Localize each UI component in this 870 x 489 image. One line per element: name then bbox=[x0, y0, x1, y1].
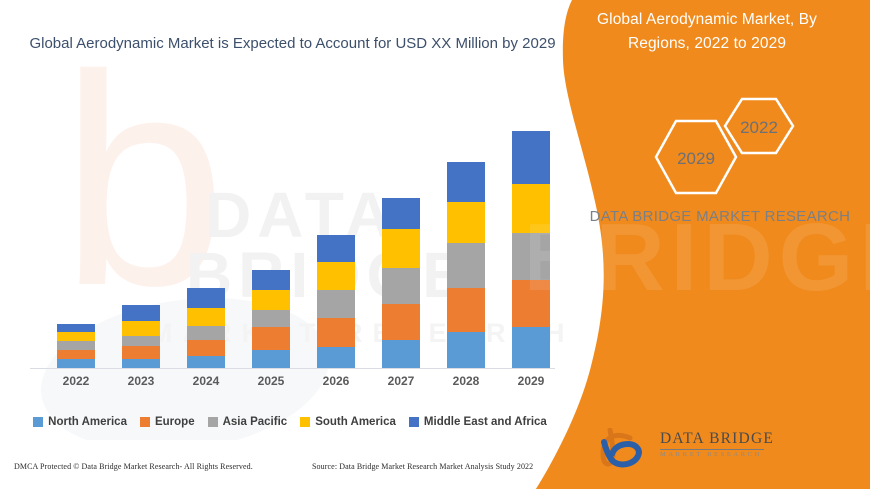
legend-swatch-icon bbox=[300, 417, 310, 427]
stacked-bar bbox=[187, 288, 225, 368]
bar-segment bbox=[447, 332, 485, 368]
logo-subtitle: MARKET RESEARCH bbox=[660, 451, 762, 458]
bar-segment bbox=[57, 324, 95, 332]
bar-segment bbox=[252, 310, 290, 327]
bar-segment bbox=[252, 350, 290, 368]
footer: DMCA Protected © Data Bridge Market Rese… bbox=[0, 462, 600, 484]
bar-segment bbox=[382, 198, 420, 229]
slide-canvas: b DATA BRIDGE MARKET RESEARCH Global Aer… bbox=[0, 0, 870, 489]
stacked-bar bbox=[382, 198, 420, 368]
chart-plot-area: 20222023202420252026202720282029 bbox=[0, 0, 600, 400]
bar-segment bbox=[382, 340, 420, 368]
logo-mark-icon bbox=[600, 428, 656, 472]
legend-swatch-icon bbox=[140, 417, 150, 427]
legend-item[interactable]: Middle East and Africa bbox=[409, 416, 547, 428]
bar-segment bbox=[382, 229, 420, 268]
legend-swatch-icon bbox=[33, 417, 43, 427]
orange-side-panel: BRIDGE Global Aerodynamic Market, By Reg… bbox=[530, 0, 870, 489]
bar-segment bbox=[317, 318, 355, 347]
legend-label: North America bbox=[48, 416, 127, 428]
legend-label: Middle East and Africa bbox=[424, 416, 547, 428]
stacked-bar bbox=[122, 305, 160, 368]
bar-segment bbox=[57, 350, 95, 359]
bar-segment bbox=[317, 235, 355, 262]
bar-segment bbox=[317, 262, 355, 290]
bar-segment bbox=[252, 270, 290, 290]
chart-legend: North AmericaEuropeAsia PacificSouth Ame… bbox=[0, 416, 580, 428]
bar-segment bbox=[317, 290, 355, 318]
bar-segment bbox=[447, 162, 485, 202]
panel-title: Global Aerodynamic Market, By Regions, 2… bbox=[572, 8, 842, 56]
bar-segment bbox=[317, 347, 355, 368]
svg-text:2029: 2029 bbox=[677, 149, 715, 168]
legend-item[interactable]: North America bbox=[33, 416, 127, 428]
svg-text:2022: 2022 bbox=[740, 118, 778, 137]
stacked-bar bbox=[252, 270, 290, 368]
legend-item[interactable]: South America bbox=[300, 416, 396, 428]
bar-segment bbox=[122, 359, 160, 368]
legend-label: Europe bbox=[155, 416, 195, 428]
bar-segment bbox=[447, 243, 485, 288]
legend-label: South America bbox=[315, 416, 396, 428]
x-axis-label: 2025 bbox=[241, 374, 301, 388]
bar-segment bbox=[252, 327, 290, 350]
bar-segment bbox=[57, 332, 95, 341]
stacked-bar bbox=[57, 324, 95, 368]
bar-segment bbox=[122, 346, 160, 359]
x-axis-label: 2027 bbox=[371, 374, 431, 388]
bar-segment bbox=[252, 290, 290, 310]
x-axis-label: 2026 bbox=[306, 374, 366, 388]
bar-segment bbox=[447, 202, 485, 243]
hexagon-pair: 2022 2029 bbox=[590, 95, 840, 210]
bar-segment bbox=[57, 359, 95, 368]
x-axis-labels: 20222023202420252026202720282029 bbox=[0, 374, 600, 398]
logo-wordmark: DATA BRIDGE bbox=[660, 430, 774, 448]
logo-divider bbox=[660, 449, 764, 450]
stacked-bar bbox=[447, 162, 485, 368]
footer-copyright: DMCA Protected © Data Bridge Market Rese… bbox=[14, 462, 253, 471]
panel-brand-text: DATA BRIDGE MARKET RESEARCH bbox=[580, 206, 860, 229]
bar-segment bbox=[57, 341, 95, 350]
legend-swatch-icon bbox=[409, 417, 419, 427]
bar-segment bbox=[382, 268, 420, 304]
x-axis-label: 2023 bbox=[111, 374, 171, 388]
bar-segment bbox=[382, 304, 420, 340]
databridge-logo: DATA BRIDGE MARKET RESEARCH bbox=[600, 428, 800, 474]
bar-segment bbox=[122, 305, 160, 321]
x-axis-line bbox=[30, 368, 555, 369]
x-axis-label: 2028 bbox=[436, 374, 496, 388]
legend-item[interactable]: Asia Pacific bbox=[208, 416, 288, 428]
bar-segment bbox=[187, 356, 225, 368]
legend-item[interactable]: Europe bbox=[140, 416, 195, 428]
x-axis-label: 2024 bbox=[176, 374, 236, 388]
bar-segment bbox=[122, 336, 160, 346]
bar-segment bbox=[447, 288, 485, 332]
stacked-bar bbox=[317, 235, 355, 368]
footer-source: Source: Data Bridge Market Research Mark… bbox=[312, 462, 533, 471]
x-axis-label: 2022 bbox=[46, 374, 106, 388]
bar-segment bbox=[122, 321, 160, 336]
legend-label: Asia Pacific bbox=[223, 416, 288, 428]
bar-segment bbox=[187, 288, 225, 308]
bar-segment bbox=[187, 308, 225, 326]
legend-swatch-icon bbox=[208, 417, 218, 427]
bar-segment bbox=[187, 340, 225, 356]
bar-segment bbox=[187, 326, 225, 340]
orange-panel-shape: BRIDGE bbox=[530, 0, 870, 489]
